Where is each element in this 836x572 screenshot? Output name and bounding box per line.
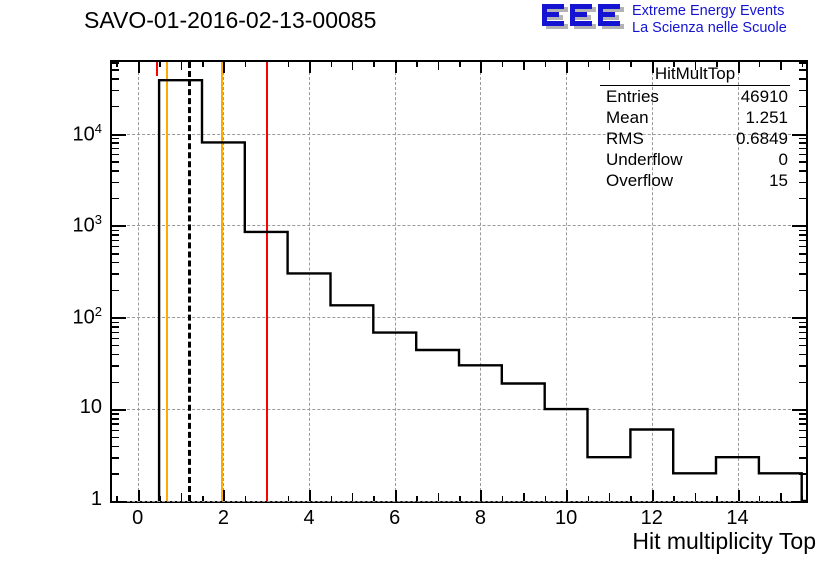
x-axis-tick-label: 4 (284, 507, 334, 530)
x-axis-tick-label: 12 (627, 507, 677, 530)
x-axis-tick-label: 0 (113, 507, 163, 530)
stats-row-label: RMS (606, 129, 644, 148)
stats-row: Overflow15 (600, 170, 790, 191)
stats-row: Entries46910 (600, 86, 790, 107)
eee-logo-text: Extreme Energy Events La Scienza nelle S… (632, 3, 787, 36)
stats-row-value: 0 (779, 150, 788, 169)
x-axis-tick-label: 2 (198, 507, 248, 530)
y-axis-tick-label: 104 (73, 121, 102, 147)
y-axis-tick-label: 103 (73, 212, 102, 238)
stats-row-label: Overflow (606, 171, 673, 190)
stats-row-label: Entries (606, 87, 659, 106)
stats-row-value: 1.251 (745, 108, 788, 127)
root-canvas: SAVO-01-2016-02-13-00085 (0, 0, 836, 572)
stats-title: HitMultTop (600, 64, 790, 86)
stats-row: Mean1.251 (600, 107, 790, 128)
axis-tick (792, 501, 806, 503)
page-title: SAVO-01-2016-02-13-00085 (84, 7, 376, 34)
eee-mark-icon (540, 2, 626, 34)
x-axis-tick-label: 14 (713, 507, 763, 530)
stats-row-value: 46910 (741, 87, 788, 106)
x-axis-tick-label: 10 (541, 507, 591, 530)
y-axis-tick-label: 1 (91, 488, 102, 511)
stats-row: Underflow0 (600, 149, 790, 170)
y-axis-tick-label: 102 (73, 304, 102, 330)
eee-logo: Extreme Energy Events La Scienza nelle S… (540, 2, 836, 42)
y-axis-tick-label: 10 (80, 396, 102, 419)
stats-row-label: Mean (606, 108, 649, 127)
x-axis-tick-label: 6 (370, 507, 420, 530)
stats-row-label: Underflow (606, 150, 683, 169)
x-axis-tick-label: 8 (455, 507, 505, 530)
stats-rows: Entries46910Mean1.251RMS0.6849Underflow0… (600, 86, 790, 191)
eee-logo-line1: Extreme Energy Events (632, 3, 787, 20)
gridline-horizontal (112, 501, 806, 502)
stats-box: HitMultTop Entries46910Mean1.251RMS0.684… (600, 64, 790, 191)
stats-row: RMS0.6849 (600, 128, 790, 149)
stats-row-value: 0.6849 (736, 129, 788, 148)
x-axis-title: Hit multiplicity Top (632, 528, 816, 555)
stats-row-value: 15 (769, 171, 788, 190)
axis-tick (112, 501, 126, 503)
eee-logo-line2: La Scienza nelle Scuole (632, 20, 787, 37)
